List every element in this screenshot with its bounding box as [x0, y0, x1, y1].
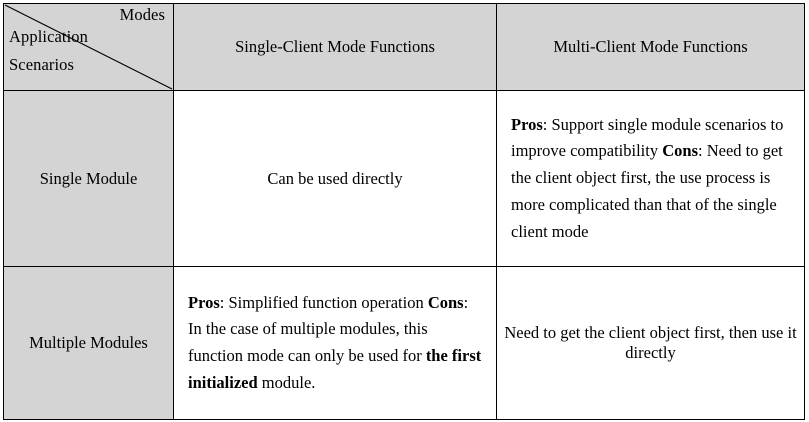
cell-multiple-modules-single-client-text: Pros: Simplified function operation Cons… [174, 280, 496, 407]
modes-scenarios-table: Modes Application Scenarios Single-Clien… [3, 3, 805, 420]
column-header-single-client: Single-Client Mode Functions [174, 4, 497, 91]
column-header-multi-client: Multi-Client Mode Functions [497, 4, 805, 91]
row-header-single-module: Single Module [4, 91, 174, 267]
cell-single-module-single-client: Can be used directly [174, 91, 497, 267]
cell-single-module-multi-client: Pros: Support single module scenarios to… [497, 91, 805, 267]
corner-header-modes-label: Modes [120, 6, 165, 23]
table-row-multiple-modules: Multiple Modules Pros: Simplified functi… [4, 267, 805, 420]
comparison-table-container: Modes Application Scenarios Single-Clien… [3, 3, 804, 419]
table-header-row: Modes Application Scenarios Single-Clien… [4, 4, 805, 91]
cell-multiple-modules-single-client: Pros: Simplified function operation Cons… [174, 267, 497, 420]
cell-multiple-modules-multi-client: Need to get the client object first, the… [497, 267, 805, 420]
cell-single-module-multi-client-text: Pros: Support single module scenarios to… [497, 102, 804, 256]
corner-header-inner: Modes Application Scenarios [4, 4, 173, 90]
corner-header-scenarios-label: Scenarios [9, 56, 74, 73]
row-header-multiple-modules: Multiple Modules [4, 267, 174, 420]
corner-header-application-label: Application [9, 28, 88, 45]
table-row-single-module: Single Module Can be used directly Pros:… [4, 91, 805, 267]
corner-header-cell: Modes Application Scenarios [4, 4, 174, 91]
